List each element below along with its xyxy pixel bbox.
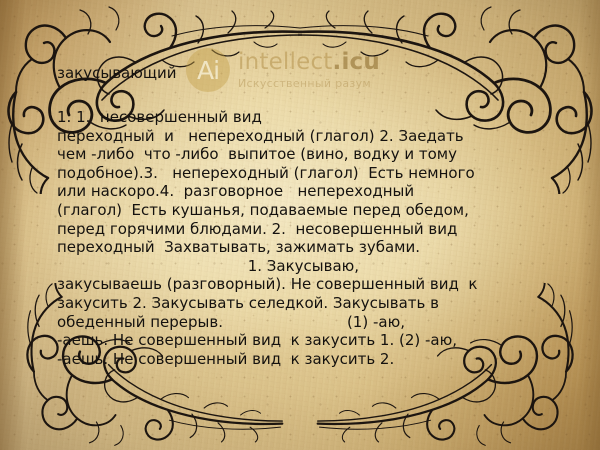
entry-line: подобное).3. непереходный (глагол) Есть … <box>57 164 557 183</box>
entry-line: обеденный перерыв. (1) -аю, <box>57 313 557 332</box>
entry-line: чем -либо что -либо выпитое (вино, водку… <box>57 145 557 164</box>
watermark: Ai intellect.icu Искусственный разум <box>186 48 380 92</box>
entry-line: перед горячими блюдами. 2. несовершенный… <box>57 220 557 239</box>
entry-line: 1. Закусываю, <box>57 257 557 276</box>
page-left-edge-shadow <box>0 0 26 450</box>
watermark-text: intellect.icu Искусственный разум <box>238 51 380 89</box>
entry-line: закусить 2. Закусывать селедкой. Закусыв… <box>57 294 557 313</box>
dictionary-entry-body: 1. 1. несовершенный вид переходный и неп… <box>57 108 557 368</box>
entry-line: переходный Захватывать, зажимать зубами. <box>57 238 557 257</box>
entry-line: (глагол) Есть кушанья, подаваемые перед … <box>57 201 557 220</box>
watermark-brand-name: intellect <box>238 49 333 75</box>
page-right-edge-shadow <box>578 0 600 450</box>
watermark-badge-letters: Ai <box>197 58 219 83</box>
entry-line: -аешь. Не совершенный вид к закусить 1. … <box>57 331 557 350</box>
watermark-tagline: Искусственный разум <box>238 78 380 89</box>
headword: закусывающий <box>57 64 176 82</box>
entry-line: переходный и непереходный (глагол) 2. За… <box>57 127 557 146</box>
entry-line: или наскоро.4. разговорное непереходный <box>57 182 557 201</box>
watermark-brand: intellect.icu <box>238 51 380 74</box>
watermark-badge-icon: Ai <box>186 48 230 92</box>
watermark-brand-tld: .icu <box>333 49 380 75</box>
entry-line: -аешь. Не совершенный вид к закусить 2. <box>57 350 557 369</box>
entry-line: 1. 1. несовершенный вид <box>57 108 557 127</box>
parchment-page: Ai intellect.icu Искусственный разум зак… <box>0 0 600 450</box>
entry-line: закусываешь (разговорный). Не совершенны… <box>57 275 557 294</box>
